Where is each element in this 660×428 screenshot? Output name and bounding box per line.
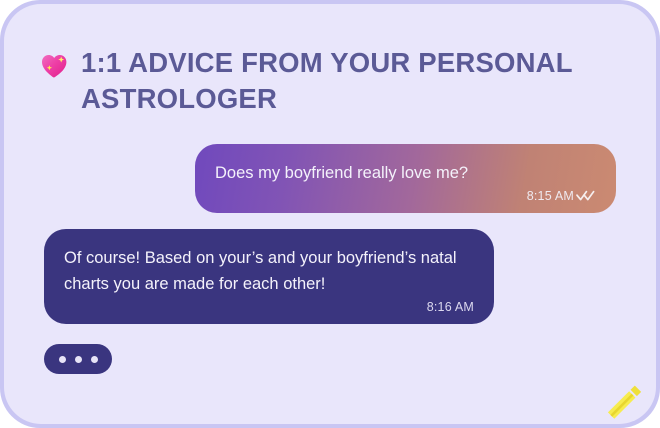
typing-indicator-row bbox=[4, 344, 656, 374]
page-title-row: 1:1 ADVICE FROM YOUR PERSONAL ASTROLOGER bbox=[38, 45, 618, 118]
sparkling-heart-icon bbox=[38, 48, 70, 80]
message-row-incoming: Of course! Based on your’s and your boyf… bbox=[4, 229, 656, 324]
message-meta: 8:16 AM bbox=[64, 300, 474, 314]
typing-dot bbox=[75, 356, 82, 363]
message-text: Of course! Based on your’s and your boyf… bbox=[64, 245, 474, 298]
typing-indicator bbox=[44, 344, 112, 374]
chat-thread: Does my boyfriend really love me? 8:15 A… bbox=[4, 144, 656, 374]
page-title: 1:1 ADVICE FROM YOUR PERSONAL ASTROLOGER bbox=[81, 45, 591, 118]
message-row-outgoing: Does my boyfriend really love me? 8:15 A… bbox=[4, 144, 656, 213]
double-check-icon bbox=[576, 189, 596, 203]
screenshot-root: 1:1 ADVICE FROM YOUR PERSONAL ASTROLOGER… bbox=[0, 0, 660, 428]
message-timestamp: 8:16 AM bbox=[427, 300, 474, 314]
typing-dot bbox=[91, 356, 98, 363]
message-timestamp: 8:15 AM bbox=[527, 189, 574, 203]
message-text: Does my boyfriend really love me? bbox=[215, 160, 596, 187]
message-meta: 8:15 AM bbox=[215, 189, 596, 203]
message-bubble-incoming[interactable]: Of course! Based on your’s and your boyf… bbox=[44, 229, 494, 324]
astrologer-chat-card: 1:1 ADVICE FROM YOUR PERSONAL ASTROLOGER… bbox=[4, 4, 656, 424]
message-bubble-outgoing[interactable]: Does my boyfriend really love me? 8:15 A… bbox=[195, 144, 616, 213]
typing-dot bbox=[59, 356, 66, 363]
